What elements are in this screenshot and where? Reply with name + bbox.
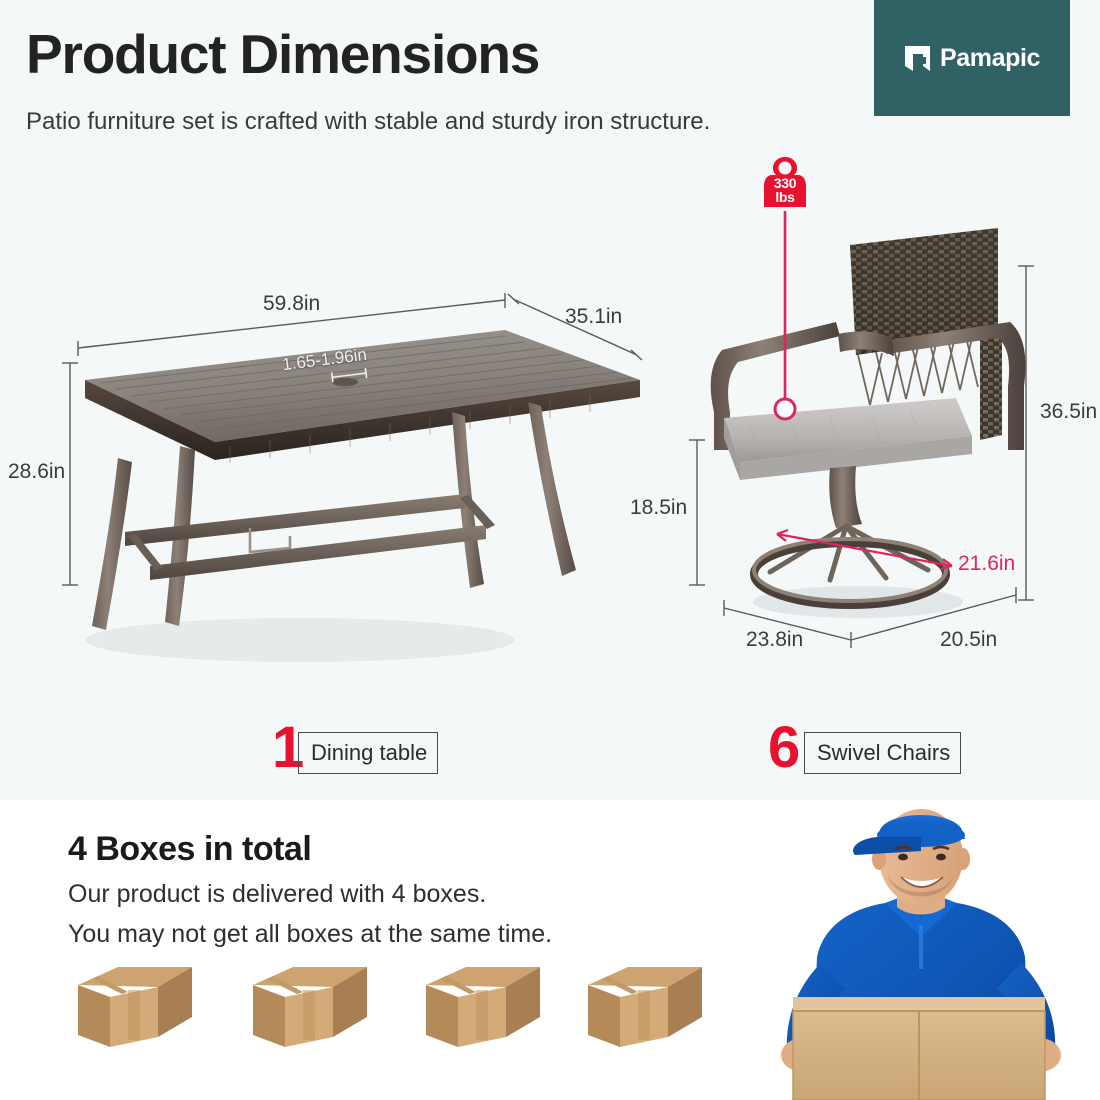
chair-base-diameter-label: 21.6in [958, 552, 1015, 576]
delivery-person-illustration [745, 805, 1095, 1100]
count-number-chairs: 6 [768, 719, 798, 777]
packaging-title: 4 Boxes in total [68, 830, 311, 869]
packaging-line-1: Our product is delivered with 4 boxes. [68, 880, 486, 909]
count-label-box-table: Dining table [298, 732, 438, 774]
count-label-chairs: Swivel Chairs [817, 740, 950, 766]
carton-icon [245, 963, 375, 1053]
dimensions-section: Product Dimensions Patio furniture set i… [0, 0, 1100, 800]
chair-depth-label: 20.5in [940, 628, 997, 652]
packaging-section: 4 Boxes in total Our product is delivere… [0, 800, 1100, 1100]
packaging-line-2: You may not get all boxes at the same ti… [68, 920, 552, 949]
chair-height-label: 36.5in [1040, 400, 1097, 424]
carton-icon [580, 963, 710, 1053]
carton-icon [418, 963, 548, 1053]
chair-width-label: 23.8in [746, 628, 803, 652]
carton-icon [70, 963, 200, 1053]
count-label-table: Dining table [311, 740, 427, 766]
chair-dimension-lines [0, 0, 1100, 700]
count-label-box-chairs: Swivel Chairs [804, 732, 961, 774]
infographic-page: Product Dimensions Patio furniture set i… [0, 0, 1100, 1100]
